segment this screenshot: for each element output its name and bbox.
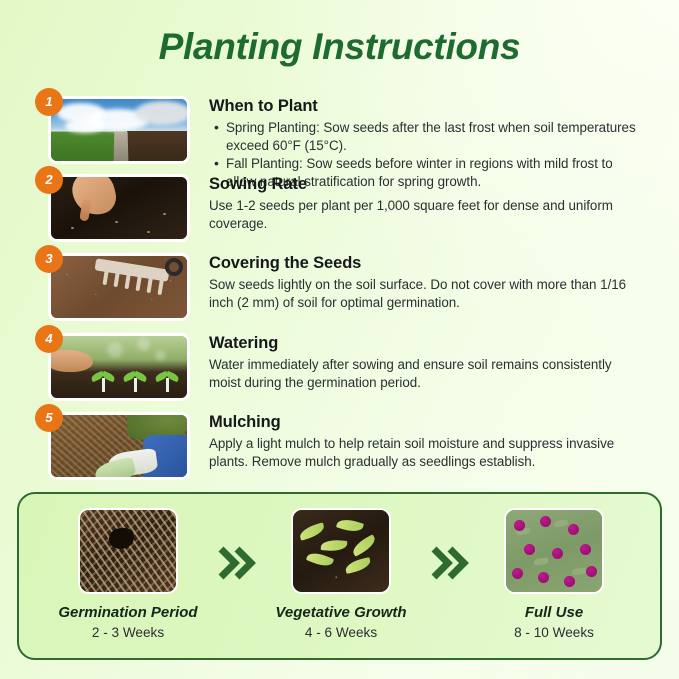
- double-chevron-right-icon: [430, 546, 470, 580]
- step-3-thumbnail-wrap: 3: [48, 253, 190, 321]
- rake-on-brown-soil-photo: [48, 253, 190, 321]
- bullet: Spring Planting: Sow seeds after the las…: [226, 119, 639, 154]
- step-number-badge-3: 3: [35, 245, 63, 273]
- page-title: Planting Instructions: [0, 25, 679, 69]
- step-2-body: Use 1-2 seeds per plant per 1,000 square…: [209, 197, 639, 232]
- growth-timeline-panel: Germination Period 2 - 3 Weeks: [17, 492, 662, 660]
- step-1-heading: When to Plant: [209, 96, 639, 116]
- step-5-text: Mulching Apply a light mulch to help ret…: [209, 412, 639, 470]
- step-number-badge-1: 1: [35, 88, 63, 116]
- young-seedlings-in-tray-photo: [291, 508, 391, 594]
- step-4-thumbnail-wrap: 4: [48, 333, 190, 401]
- step-number-badge-2: 2: [35, 166, 63, 194]
- step-number-badge-4: 4: [35, 325, 63, 353]
- planting-instructions-infographic: Planting Instructions 1 When to Plant Sp…: [0, 0, 679, 679]
- step-5-body: Apply a light mulch to help retain soil …: [209, 435, 639, 470]
- step-2-text: Sowing Rate Use 1-2 seeds per plant per …: [209, 174, 639, 232]
- timeline-stage-1-duration: 2 - 3 Weeks: [43, 624, 213, 642]
- step-3-heading: Covering the Seeds: [209, 253, 639, 273]
- step-4-heading: Watering: [209, 333, 639, 353]
- timeline-stage-3-duration: 8 - 10 Weeks: [469, 624, 639, 642]
- timeline-stage-1: Germination Period 2 - 3 Weeks: [43, 508, 213, 642]
- step-number-badge-5: 5: [35, 404, 63, 432]
- step-2-thumbnail-wrap: 2: [48, 174, 190, 242]
- timeline-stage-2: Vegetative Growth 4 - 6 Weeks: [256, 508, 426, 642]
- gloved-hands-applying-mulch-photo: [48, 412, 190, 480]
- timeline-stage-3-title: Full Use: [469, 603, 639, 622]
- step-3-text: Covering the Seeds Sow seeds lightly on …: [209, 253, 639, 311]
- seeds-in-dark-soil-photo: [78, 508, 178, 594]
- step-4-text: Watering Water immediately after sowing …: [209, 333, 639, 391]
- step-1-thumbnail-wrap: 1: [48, 96, 190, 164]
- timeline-stage-2-title: Vegetative Growth: [256, 603, 426, 622]
- double-chevron-right-icon: [217, 546, 257, 580]
- step-5-heading: Mulching: [209, 412, 639, 432]
- timeline-stage-3: Full Use 8 - 10 Weeks: [469, 508, 639, 642]
- step-5-thumbnail-wrap: 5: [48, 412, 190, 480]
- field-with-path-and-clouds-photo: [48, 96, 190, 164]
- timeline-stage-2-duration: 4 - 6 Weeks: [256, 624, 426, 642]
- timeline-stage-1-title: Germination Period: [43, 603, 213, 622]
- hand-watering-seedlings-photo: [48, 333, 190, 401]
- purple-globe-amaranth-flowers-photo: [504, 508, 604, 594]
- hand-sowing-seeds-in-dark-soil-photo: [48, 174, 190, 242]
- step-3-body: Sow seeds lightly on the soil surface. D…: [209, 276, 639, 311]
- step-2-heading: Sowing Rate: [209, 174, 639, 194]
- step-4-body: Water immediately after sowing and ensur…: [209, 356, 639, 391]
